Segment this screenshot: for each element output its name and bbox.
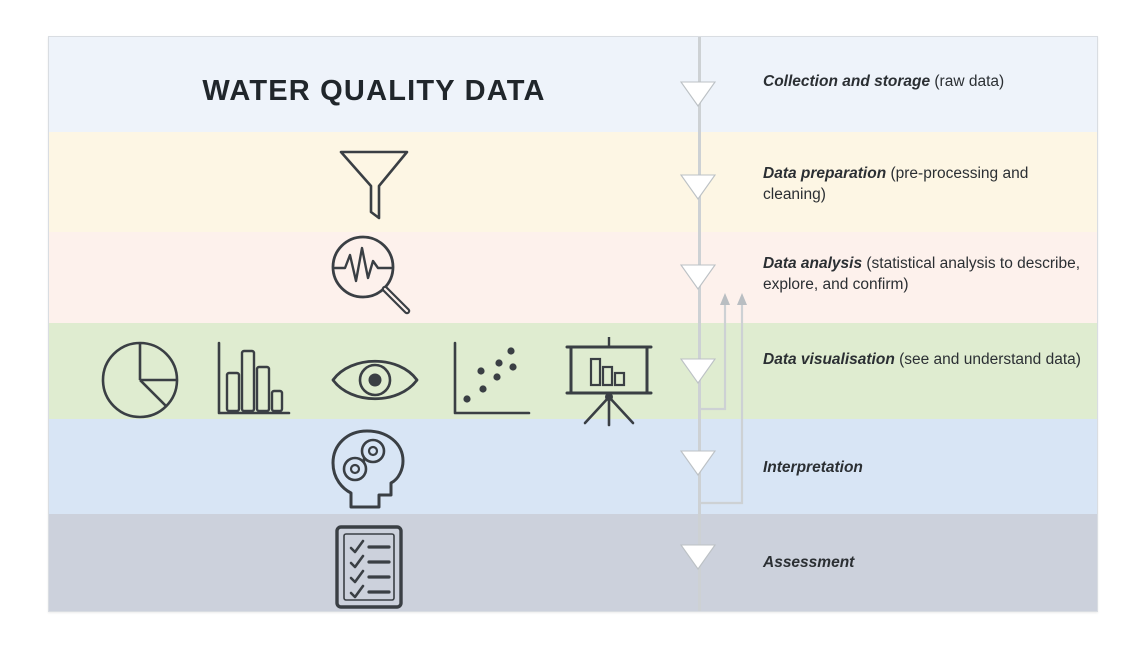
diagram-canvas: WATER QUALITY DATA: [0, 0, 1140, 649]
feedback-loop-interpretation-to-analysis: [689, 287, 769, 512]
timeline-arrow-assessment: [681, 545, 715, 569]
eye-icon: [327, 349, 423, 411]
stage-lead-analysis: Data analysis: [763, 255, 862, 272]
stage-rest-collection: (raw data): [930, 73, 1004, 90]
stage-lead-preparation: Data preparation: [763, 165, 886, 182]
stage-label-analysis: Data analysis (statistical analysis to d…: [763, 253, 1098, 296]
scatter-plot-icon: [445, 337, 535, 423]
pie-chart-icon: [97, 337, 183, 423]
bar-chart-icon: [209, 337, 295, 423]
presentation-board-icon: [561, 335, 657, 427]
stage-label-collection: Collection and storage (raw data): [763, 71, 1093, 92]
stage-label-visualisation: Data visualisation (see and understand d…: [763, 349, 1093, 370]
stage-lead-assessment: Assessment: [763, 554, 854, 571]
stage-label-preparation: Data preparation (pre-processing and cle…: [763, 163, 1093, 206]
checklist-icon: [333, 523, 405, 611]
magnifier-waveform-icon: [321, 233, 421, 319]
diagram-frame: WATER QUALITY DATA: [48, 36, 1098, 612]
timeline-arrow-preparation: [681, 175, 715, 199]
timeline-arrow-analysis: [681, 265, 715, 289]
stage-label-assessment: Assessment: [763, 552, 1093, 573]
stage-lead-collection: Collection and storage: [763, 73, 930, 90]
stage-label-interpretation: Interpretation: [763, 457, 1093, 478]
stage-lead-interpretation: Interpretation: [763, 459, 863, 476]
stage-rest-visualisation: (see and understand data): [895, 351, 1081, 368]
stage-lead-visualisation: Data visualisation: [763, 351, 895, 368]
page-title: WATER QUALITY DATA: [49, 75, 699, 108]
timeline-arrow-collection: [681, 82, 715, 106]
head-gears-icon: [321, 427, 417, 515]
funnel-icon: [329, 140, 419, 225]
